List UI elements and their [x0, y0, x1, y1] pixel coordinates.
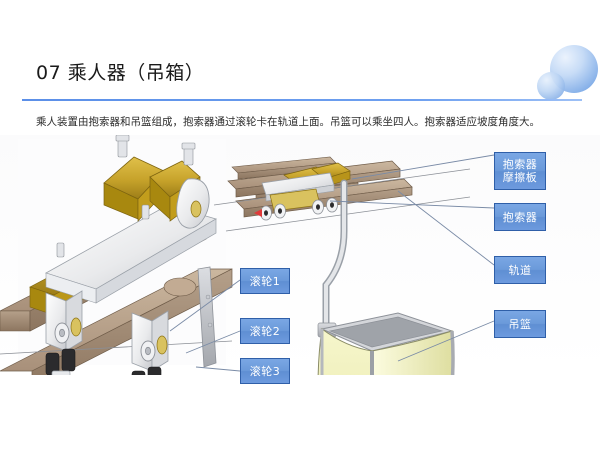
- callout-friction-plate[interactable]: 抱索器 摩擦板: [494, 152, 546, 190]
- slide-canvas: 07 乘人器（吊箱） 乘人装置由抱索器和吊篮组成，抱索器通过滚轮卡在轨道上面。吊…: [0, 0, 600, 450]
- callout-track[interactable]: 轨道: [494, 256, 546, 284]
- title-divider: [22, 99, 582, 101]
- callout-roller-2[interactable]: 滚轮2: [240, 318, 290, 344]
- callout-roller-1[interactable]: 滚轮1: [240, 268, 290, 294]
- callout-line-1: 滚轮2: [250, 325, 281, 338]
- callout-cabin[interactable]: 吊篮: [494, 310, 546, 338]
- callout-line-1: 滚轮1: [250, 275, 281, 288]
- callout-line-1: 吊篮: [509, 318, 532, 331]
- callout-grip[interactable]: 抱索器: [494, 203, 546, 231]
- slide-caption: 乘人装置由抱索器和吊篮组成，抱索器通过滚轮卡在轨道上面。吊篮可以乘坐四人。抱索器…: [36, 115, 576, 130]
- callout-line-2: 摩擦板: [503, 171, 538, 184]
- callout-line-1: 滚轮3: [250, 365, 281, 378]
- callout-roller-3[interactable]: 滚轮3: [240, 358, 290, 384]
- page-title: 07 乘人器（吊箱）: [36, 58, 204, 85]
- decorative-circles: [530, 44, 600, 106]
- callout-line-1: 抱索器: [503, 211, 538, 224]
- callout-line-1: 轨道: [509, 264, 532, 277]
- carriage-detail-assembly: [0, 135, 232, 375]
- callout-line-1: 抱索器: [503, 158, 538, 171]
